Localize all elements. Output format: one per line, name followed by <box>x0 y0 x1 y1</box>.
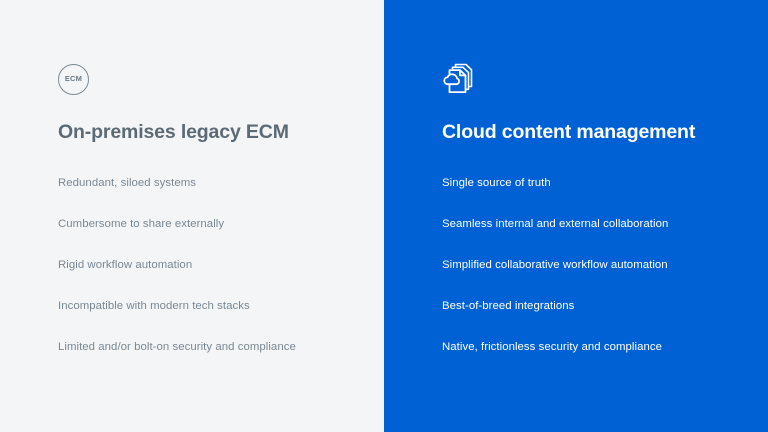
list-item: Limited and/or bolt-on security and comp… <box>58 340 364 381</box>
ecm-circle-badge-icon: ECM <box>58 64 89 95</box>
list-item: Native, frictionless security and compli… <box>442 340 748 381</box>
list-item: Single source of truth <box>442 176 748 217</box>
ecm-badge-label: ECM <box>65 75 82 83</box>
list-item: Best-of-breed integrations <box>442 299 748 340</box>
list-item: Redundant, siloed systems <box>58 176 364 217</box>
column-on-premises: ECM On-premises legacy ECM Redundant, si… <box>0 0 384 432</box>
list-item: Seamless internal and external collabora… <box>442 217 748 258</box>
comparison-slide: ECM On-premises legacy ECM Redundant, si… <box>0 0 768 432</box>
list-item: Cumbersome to share externally <box>58 217 364 258</box>
ecm-icon-container: ECM <box>58 62 89 96</box>
cloud-documents-icon <box>442 62 478 96</box>
column-on-premises-content: ECM On-premises legacy ECM Redundant, si… <box>58 0 364 432</box>
column-on-premises-heading: On-premises legacy ECM <box>58 121 289 144</box>
column-cloud-content-management-list: Single source of truth Seamless internal… <box>442 176 748 381</box>
list-item: Rigid workflow automation <box>58 258 364 299</box>
column-cloud-content-management-heading: Cloud content management <box>442 121 695 144</box>
list-item: Incompatible with modern tech stacks <box>58 299 364 340</box>
column-cloud-content-management: Cloud content management Single source o… <box>384 0 768 432</box>
column-cloud-content-management-content: Cloud content management Single source o… <box>442 0 748 432</box>
column-on-premises-list: Redundant, siloed systems Cumbersome to … <box>58 176 364 381</box>
list-item: Simplified collaborative workflow automa… <box>442 258 748 299</box>
cloud-documents-icon-container <box>442 62 478 96</box>
